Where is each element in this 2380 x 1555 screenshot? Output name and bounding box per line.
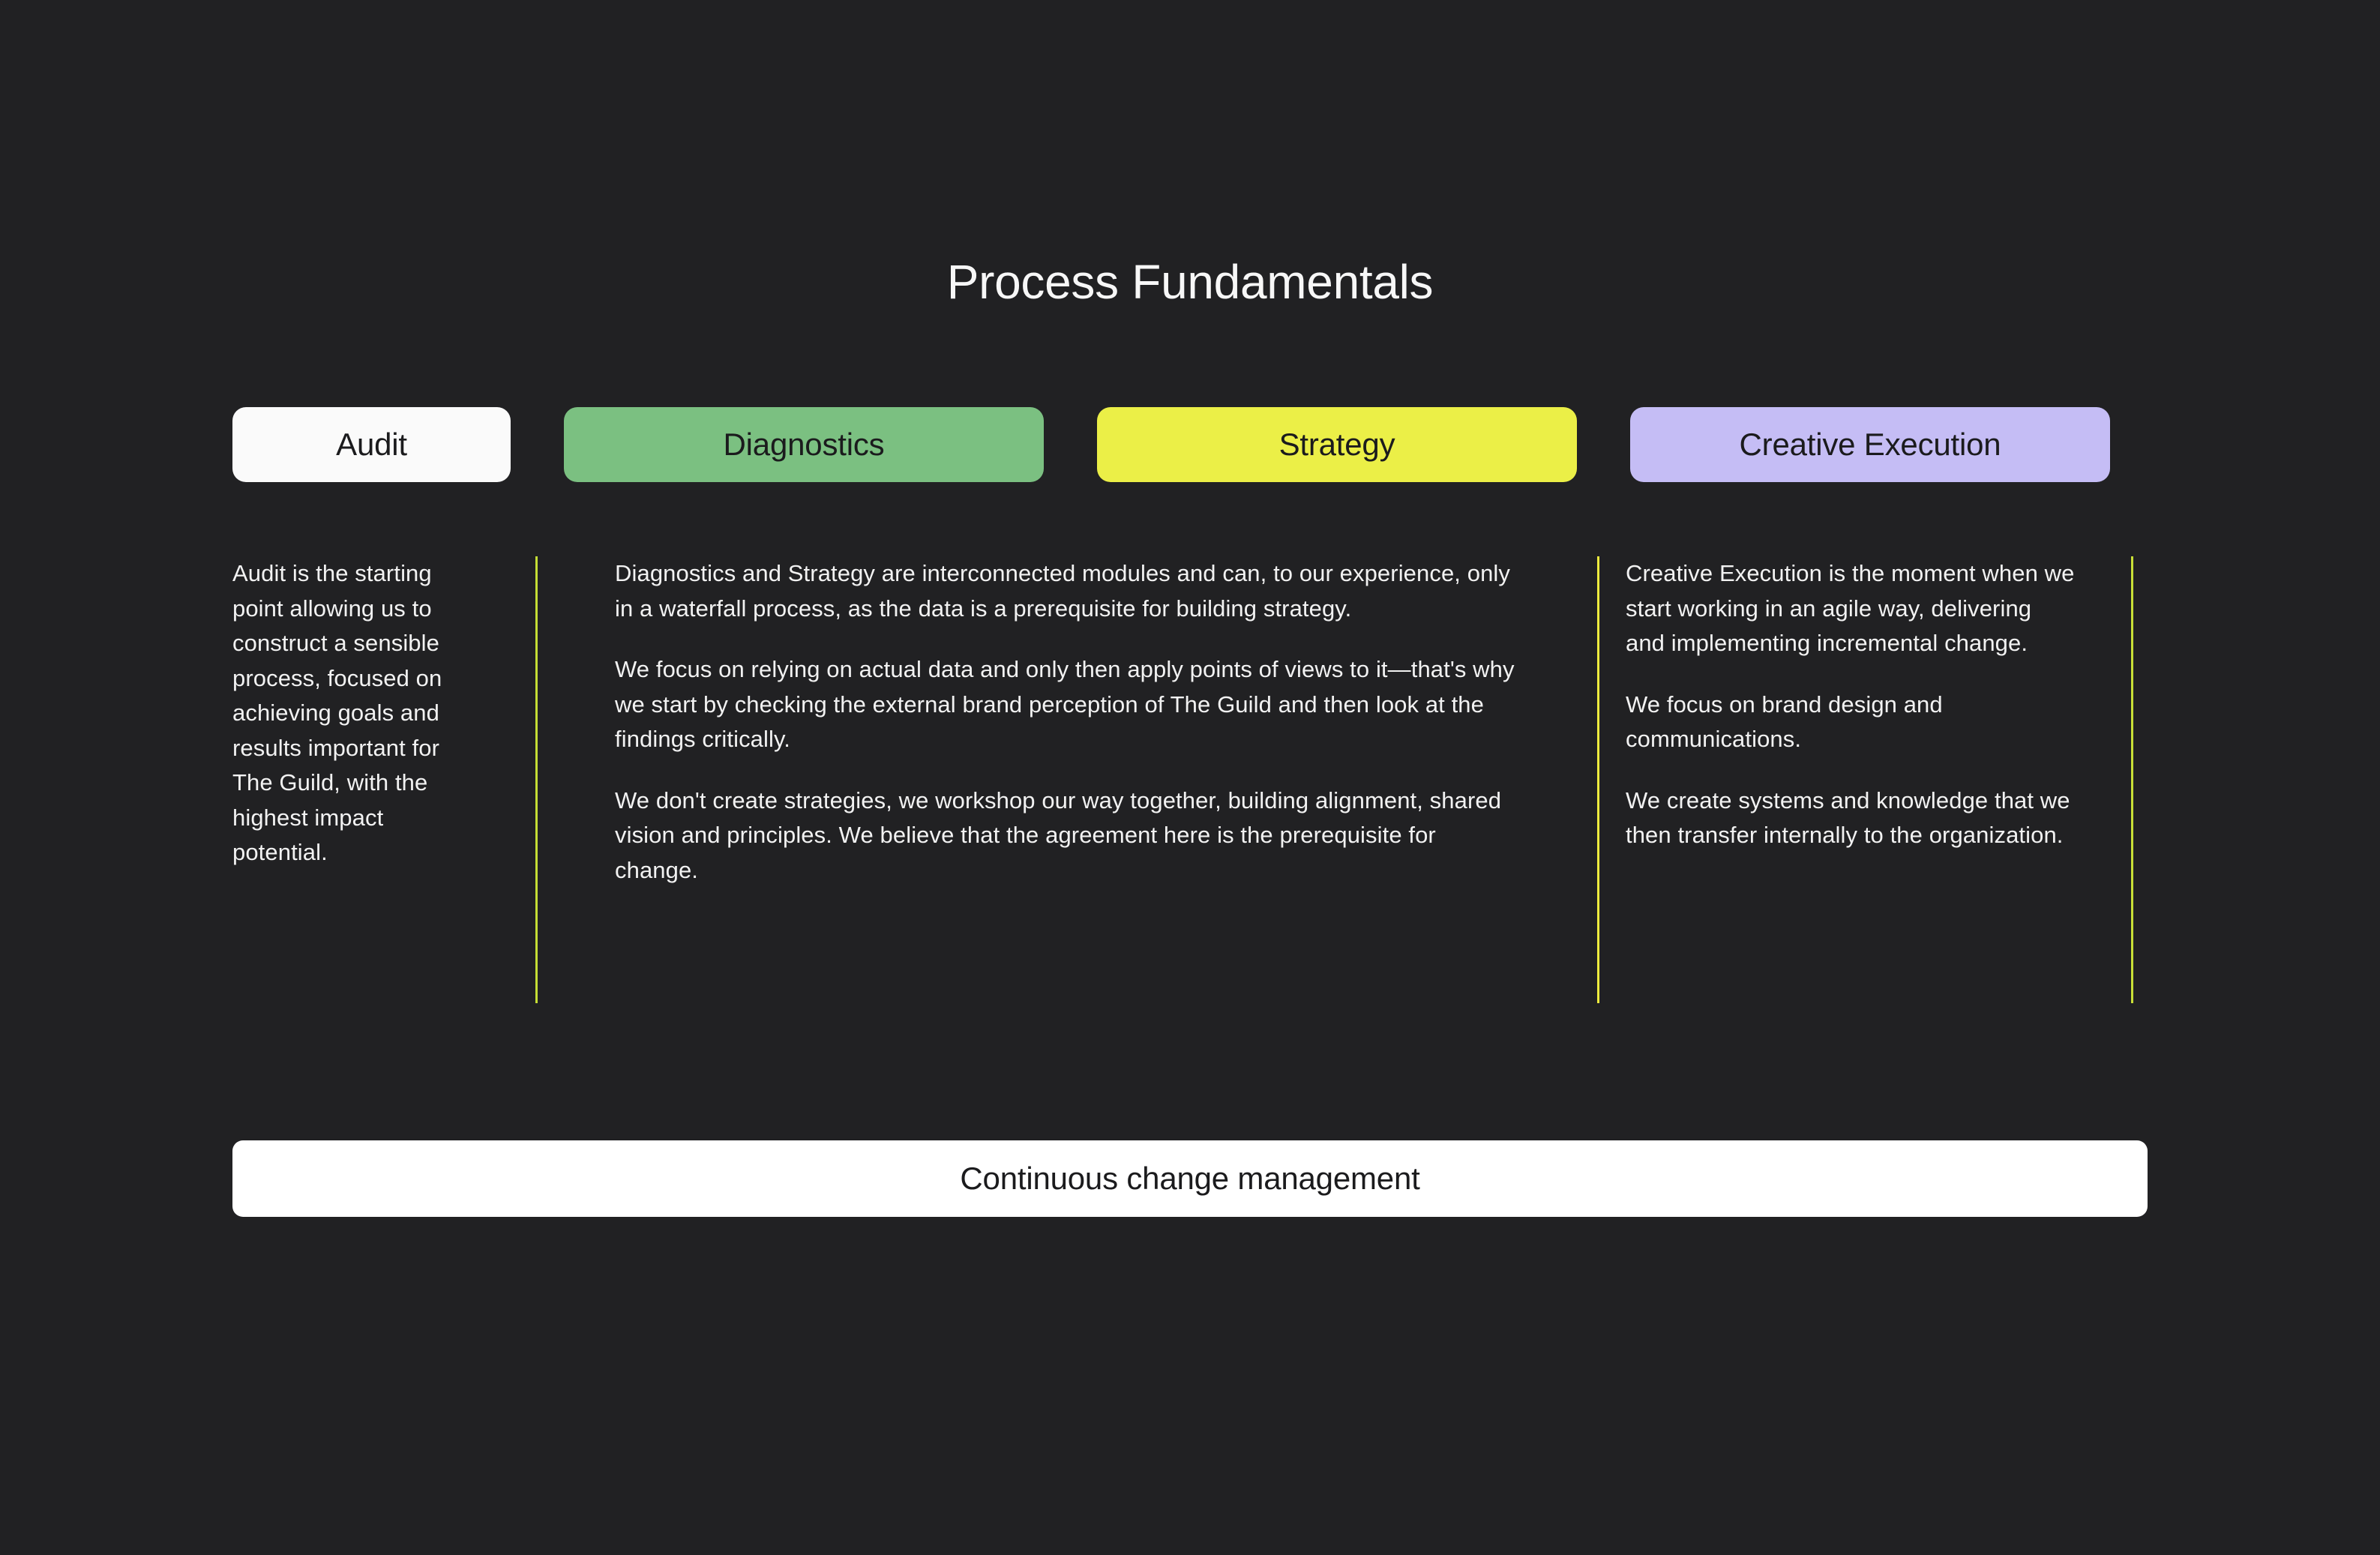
creative-paragraph-3: We create systems and knowledge that we … (1626, 783, 2076, 853)
continuous-change-management-bar[interactable]: Continuous change management (232, 1140, 2148, 1217)
phase-pill-diagnostics-label: Diagnostics (724, 427, 885, 463)
phase-pill-creative-execution-label: Creative Execution (1740, 427, 2001, 463)
diagnostics-paragraph-2: We focus on relying on actual data and o… (615, 652, 1515, 757)
description-column-diagnostics-strategy: Diagnostics and Strategy are interconnec… (615, 556, 1515, 888)
slide-canvas: Process Fundamentals Audit Diagnostics S… (0, 0, 2380, 1555)
phase-pill-audit-label: Audit (336, 427, 407, 463)
description-columns: Audit is the starting point allowing us … (232, 556, 2148, 1006)
phase-pill-audit[interactable]: Audit (232, 407, 511, 482)
phase-pill-strategy-label: Strategy (1279, 427, 1395, 463)
diagnostics-paragraph-1: Diagnostics and Strategy are interconnec… (615, 556, 1515, 626)
phase-pill-row: Audit Diagnostics Strategy Creative Exec… (232, 407, 2148, 482)
phase-pill-diagnostics[interactable]: Diagnostics (564, 407, 1044, 482)
description-column-audit: Audit is the starting point allowing us … (232, 556, 480, 870)
creative-paragraph-2: We focus on brand design and communicati… (1626, 688, 2076, 757)
phase-pill-strategy[interactable]: Strategy (1097, 407, 1577, 482)
description-column-creative-execution: Creative Execution is the moment when we… (1626, 556, 2076, 853)
creative-paragraph-1: Creative Execution is the moment when we… (1626, 556, 2076, 661)
audit-paragraph-1: Audit is the starting point allowing us … (232, 556, 480, 870)
phase-pill-creative-execution[interactable]: Creative Execution (1630, 407, 2110, 482)
diagnostics-paragraph-3: We don't create strategies, we workshop … (615, 783, 1515, 888)
page-title: Process Fundamentals (0, 255, 2380, 310)
continuous-change-management-label: Continuous change management (960, 1161, 1419, 1197)
